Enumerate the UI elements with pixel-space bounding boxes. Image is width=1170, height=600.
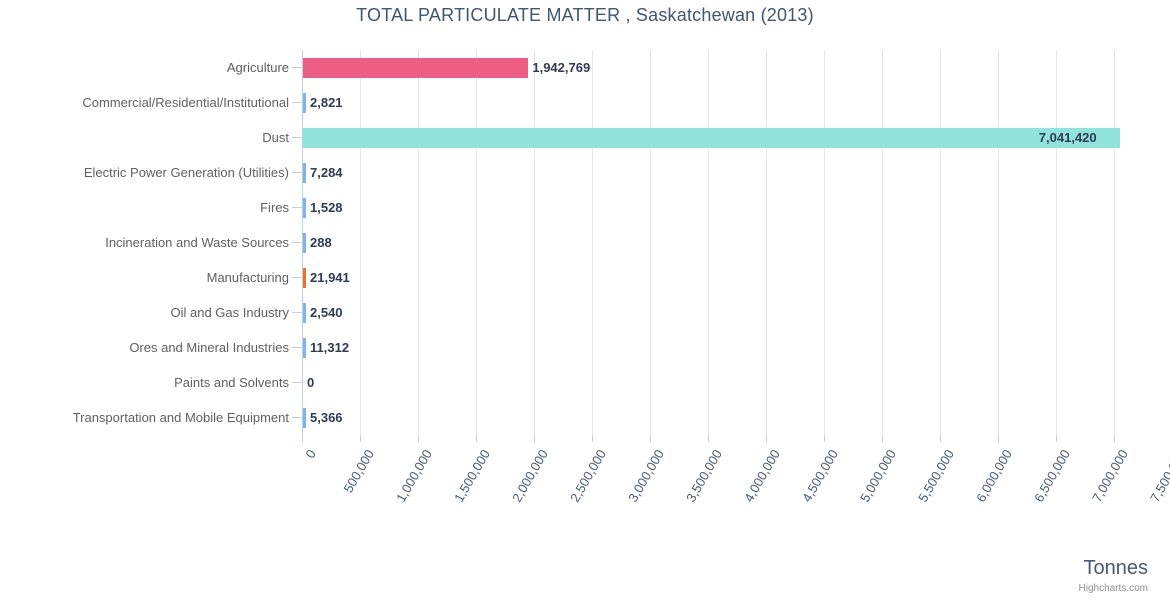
bar-value-label: 1,942,769: [532, 50, 590, 85]
bar[interactable]: [303, 408, 306, 428]
category-tick: [292, 417, 302, 418]
category-tick: [292, 347, 302, 348]
x-axis-tick: [708, 435, 709, 442]
bar[interactable]: [303, 198, 306, 218]
category-label: Dust: [262, 120, 289, 155]
category-label: Commercial/Residential/Institutional: [82, 85, 289, 120]
bar[interactable]: [303, 233, 306, 253]
bar[interactable]: [303, 268, 306, 288]
chart-title: TOTAL PARTICULATE MATTER , Saskatchewan …: [0, 5, 1170, 26]
bar-value-label: 5,366: [310, 400, 343, 435]
category-label: Incineration and Waste Sources: [105, 225, 289, 260]
category-label: Agriculture: [227, 50, 289, 85]
bar-value-label: 288: [310, 225, 332, 260]
bar[interactable]: [303, 58, 528, 78]
category-tick: [292, 172, 302, 173]
bar-value-label: 21,941: [310, 260, 350, 295]
category-label: Electric Power Generation (Utilities): [84, 155, 289, 190]
category-label: Manufacturing: [207, 260, 289, 295]
bar-row[interactable]: Incineration and Waste Sources288: [0, 225, 1170, 260]
bar-row[interactable]: Dust7,041,420: [0, 120, 1170, 155]
chart-container: TOTAL PARTICULATE MATTER , Saskatchewan …: [0, 0, 1170, 600]
category-tick: [292, 207, 302, 208]
bar[interactable]: [303, 303, 306, 323]
x-axis-tick: [534, 435, 535, 442]
category-label: Oil and Gas Industry: [171, 295, 290, 330]
x-axis-tick: [476, 435, 477, 442]
x-axis-tick: [1114, 435, 1115, 442]
x-axis-tick: [1056, 435, 1057, 442]
x-axis-tick: [882, 435, 883, 442]
bar[interactable]: [303, 338, 306, 358]
bar[interactable]: [303, 128, 1120, 148]
category-tick: [292, 312, 302, 313]
bar-value-label: 0: [307, 365, 314, 400]
bar-value-label: 2,540: [310, 295, 343, 330]
category-tick: [292, 277, 302, 278]
x-axis-tick: [824, 435, 825, 442]
category-tick: [292, 242, 302, 243]
bar-value-label: 7,041,420: [1039, 120, 1097, 155]
x-axis-tick: [360, 435, 361, 442]
category-label: Paints and Solvents: [174, 365, 289, 400]
bar-value-label: 11,312: [310, 330, 349, 365]
category-tick: [292, 67, 302, 68]
bar-row[interactable]: Commercial/Residential/Institutional2,82…: [0, 85, 1170, 120]
credits-label: Highcharts.com: [1079, 583, 1148, 594]
bar-value-label: 7,284: [310, 155, 343, 190]
x-axis-tick: [940, 435, 941, 442]
bar-row[interactable]: Ores and Mineral Industries11,312: [0, 330, 1170, 365]
bar[interactable]: [303, 163, 306, 183]
bar-row[interactable]: Agriculture1,942,769: [0, 50, 1170, 85]
x-axis: 0500,0001,000,0001,500,0002,000,0002,500…: [0, 435, 1170, 545]
category-label: Transportation and Mobile Equipment: [73, 400, 289, 435]
bar-row[interactable]: Oil and Gas Industry2,540: [0, 295, 1170, 330]
bar[interactable]: [303, 93, 306, 113]
bar-value-label: 2,821: [310, 85, 343, 120]
x-axis-title: Tonnes: [1084, 557, 1149, 580]
x-axis-tick: [592, 435, 593, 442]
bar-row[interactable]: Transportation and Mobile Equipment5,366: [0, 400, 1170, 435]
bar-value-label: 1,528: [310, 190, 343, 225]
bar-row[interactable]: Manufacturing21,941: [0, 260, 1170, 295]
bar-row[interactable]: Paints and Solvents0: [0, 365, 1170, 400]
category-tick: [292, 382, 302, 383]
category-tick: [292, 137, 302, 138]
bar-row[interactable]: Fires1,528: [0, 190, 1170, 225]
x-axis-tick: [766, 435, 767, 442]
category-tick: [292, 102, 302, 103]
x-axis-tick: [998, 435, 999, 442]
x-axis-tick: [650, 435, 651, 442]
x-axis-tick: [418, 435, 419, 442]
category-label: Ores and Mineral Industries: [129, 330, 289, 365]
x-axis-tick: [302, 435, 303, 442]
category-label: Fires: [260, 190, 289, 225]
bar-row[interactable]: Electric Power Generation (Utilities)7,2…: [0, 155, 1170, 190]
bar-rows: Agriculture1,942,769Commercial/Residenti…: [0, 50, 1170, 435]
